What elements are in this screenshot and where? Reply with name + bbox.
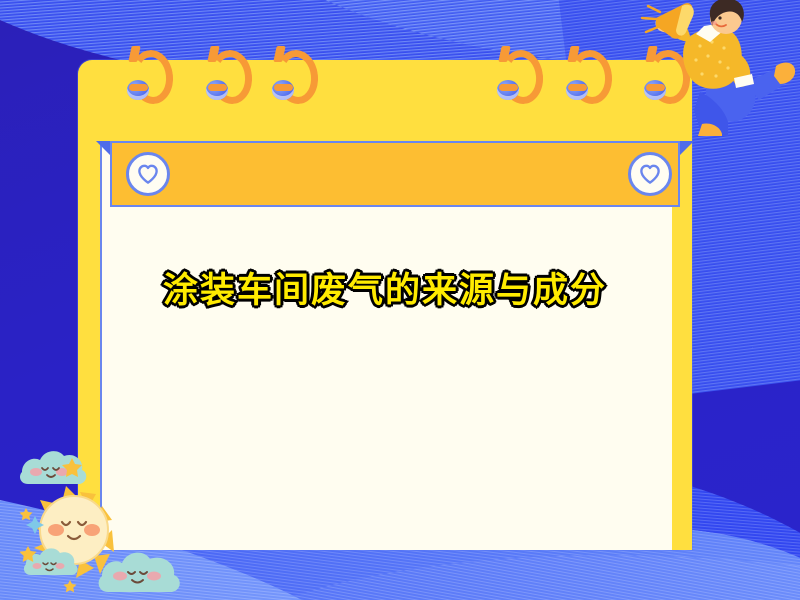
heart-icon	[137, 164, 159, 184]
spiral-ring-4	[497, 46, 533, 104]
title-banner	[110, 141, 680, 207]
ring-bead-bar	[274, 84, 293, 91]
smiling-cloud-icon	[88, 542, 206, 600]
star-icon	[64, 580, 77, 592]
spiral-ring-5	[566, 46, 602, 104]
star-icon	[19, 508, 32, 520]
spiral-ring-1	[127, 46, 163, 104]
ring-bead-bar	[568, 84, 587, 91]
ring-bead-bar	[208, 84, 227, 91]
spiral-ring-2	[206, 46, 242, 104]
heart-badge-left	[126, 152, 170, 196]
heart-icon	[639, 164, 661, 184]
page-title: 涂装车间废气的来源与成分	[100, 262, 670, 313]
ring-bead-bar	[129, 84, 148, 91]
heart-badge-right	[628, 152, 672, 196]
spiral-ring-3	[272, 46, 308, 104]
ring-bead-bar	[499, 84, 518, 91]
person-with-megaphone-illustration	[628, 0, 800, 136]
presentation-slide: 涂装车间废气的来源与成分	[0, 0, 800, 600]
